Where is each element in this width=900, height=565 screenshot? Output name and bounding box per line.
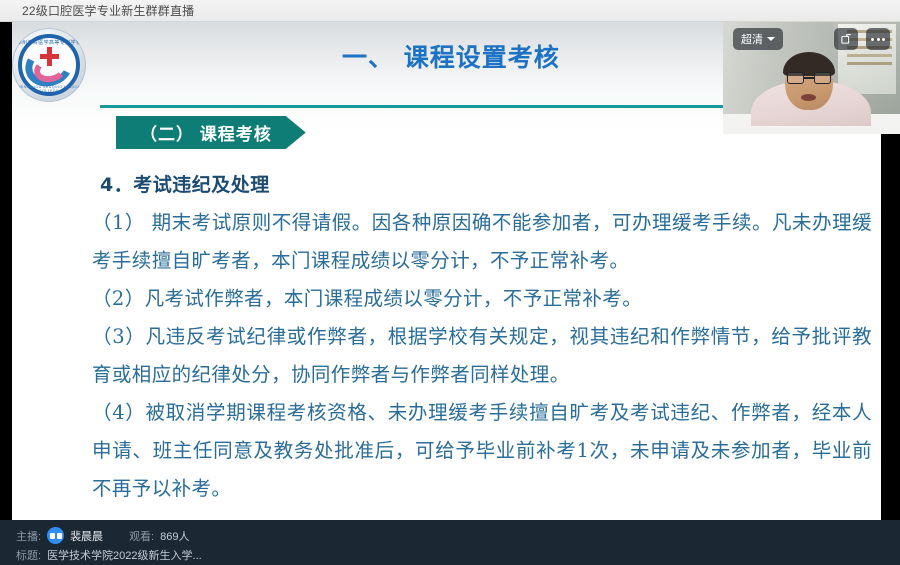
viewer-count-value: 869人: [160, 528, 189, 544]
stream-host-row: 主播: 裴晨晨 观看: 869人: [16, 526, 900, 545]
avatar-placeholder-icon: [50, 533, 62, 539]
presenter-glasses-icon: [787, 72, 831, 84]
logo-arc-text-bottom: ZHENGZHOU SHUQING MEDICAL COLLEGE: [12, 85, 86, 93]
slide-paragraph-3: （3）凡违反考试纪律或作弊者，根据学校有关规定，视其违纪和作弊情节，给予批评教育…: [92, 318, 872, 394]
video-quality-label: 超清: [741, 31, 763, 47]
video-stage[interactable]: 郑州澍青医学高等专科学校 ZHENGZHOU SHUQING MEDICAL C…: [0, 22, 900, 520]
stream-subject-row: 标题: 医学技术学院2022级新生入学...: [16, 545, 900, 564]
host-name: 裴晨晨: [70, 528, 103, 544]
slide-subsection-heading: 4．考试违纪及处理: [100, 170, 270, 197]
window-titlebar: 22级口腔医学专业新生群群直播: [0, 0, 900, 22]
popout-window-icon: [840, 33, 852, 45]
chevron-down-icon: [767, 37, 775, 41]
ellipsis-icon: [871, 38, 885, 41]
slide-paragraph-2: （2）凡考试作弊者，本门课程成绩以零分计，不予正常补考。: [92, 280, 872, 318]
more-options-button[interactable]: [866, 28, 890, 50]
slide-paragraph-1: （1） 期末考试原则不得请假。因各种原因确不能参加者，可办理缓考手续。凡未办理缓…: [92, 204, 872, 280]
popout-window-button[interactable]: [834, 28, 858, 50]
glasses-bridge: [804, 77, 814, 79]
viewer-count-label: 观看:: [129, 528, 154, 544]
presenter-mouth: [801, 94, 816, 101]
stream-info-bar: 主播: 裴晨晨 观看: 869人 标题: 医学技术学院2022级新生入学...: [0, 520, 900, 565]
window-tab-title: 22级口腔医学专业新生群群直播: [22, 2, 194, 19]
slide-section-banner: （二） 课程考核: [116, 116, 306, 149]
glasses-left-lens: [787, 72, 804, 84]
video-quality-selector[interactable]: 超清: [733, 28, 783, 50]
slide-main-heading: 一、 课程设置考核: [342, 38, 762, 74]
slide-body: （1） 期末考试原则不得请假。因各种原因确不能参加者，可办理缓考手续。凡未办理缓…: [92, 204, 872, 508]
live-stream-window: 22级口腔医学专业新生群群直播 郑州澍青医学高等专科学校 ZHENGZHOU S…: [0, 0, 900, 565]
logo-medical-cross-icon-bar: [40, 54, 59, 59]
subject-label: 标题:: [16, 547, 41, 563]
school-logo: 郑州澍青医学高等专科学校 ZHENGZHOU SHUQING MEDICAL C…: [12, 28, 86, 102]
glasses-right-lens: [814, 72, 831, 84]
host-label: 主播:: [16, 528, 41, 544]
subject-value: 医学技术学院2022级新生入学...: [47, 547, 202, 563]
webcam-controls: 超清: [723, 22, 900, 56]
avatar[interactable]: [47, 527, 64, 544]
slide-paragraph-4: （4）被取消学期课程考核资格、未办理缓考手续擅自旷考及考试违纪、作弊者，经本人申…: [92, 394, 872, 508]
logo-arc-text-top: 郑州澍青医学高等专科学校: [12, 39, 86, 46]
presenter-webcam-tile[interactable]: 超清: [723, 22, 900, 134]
